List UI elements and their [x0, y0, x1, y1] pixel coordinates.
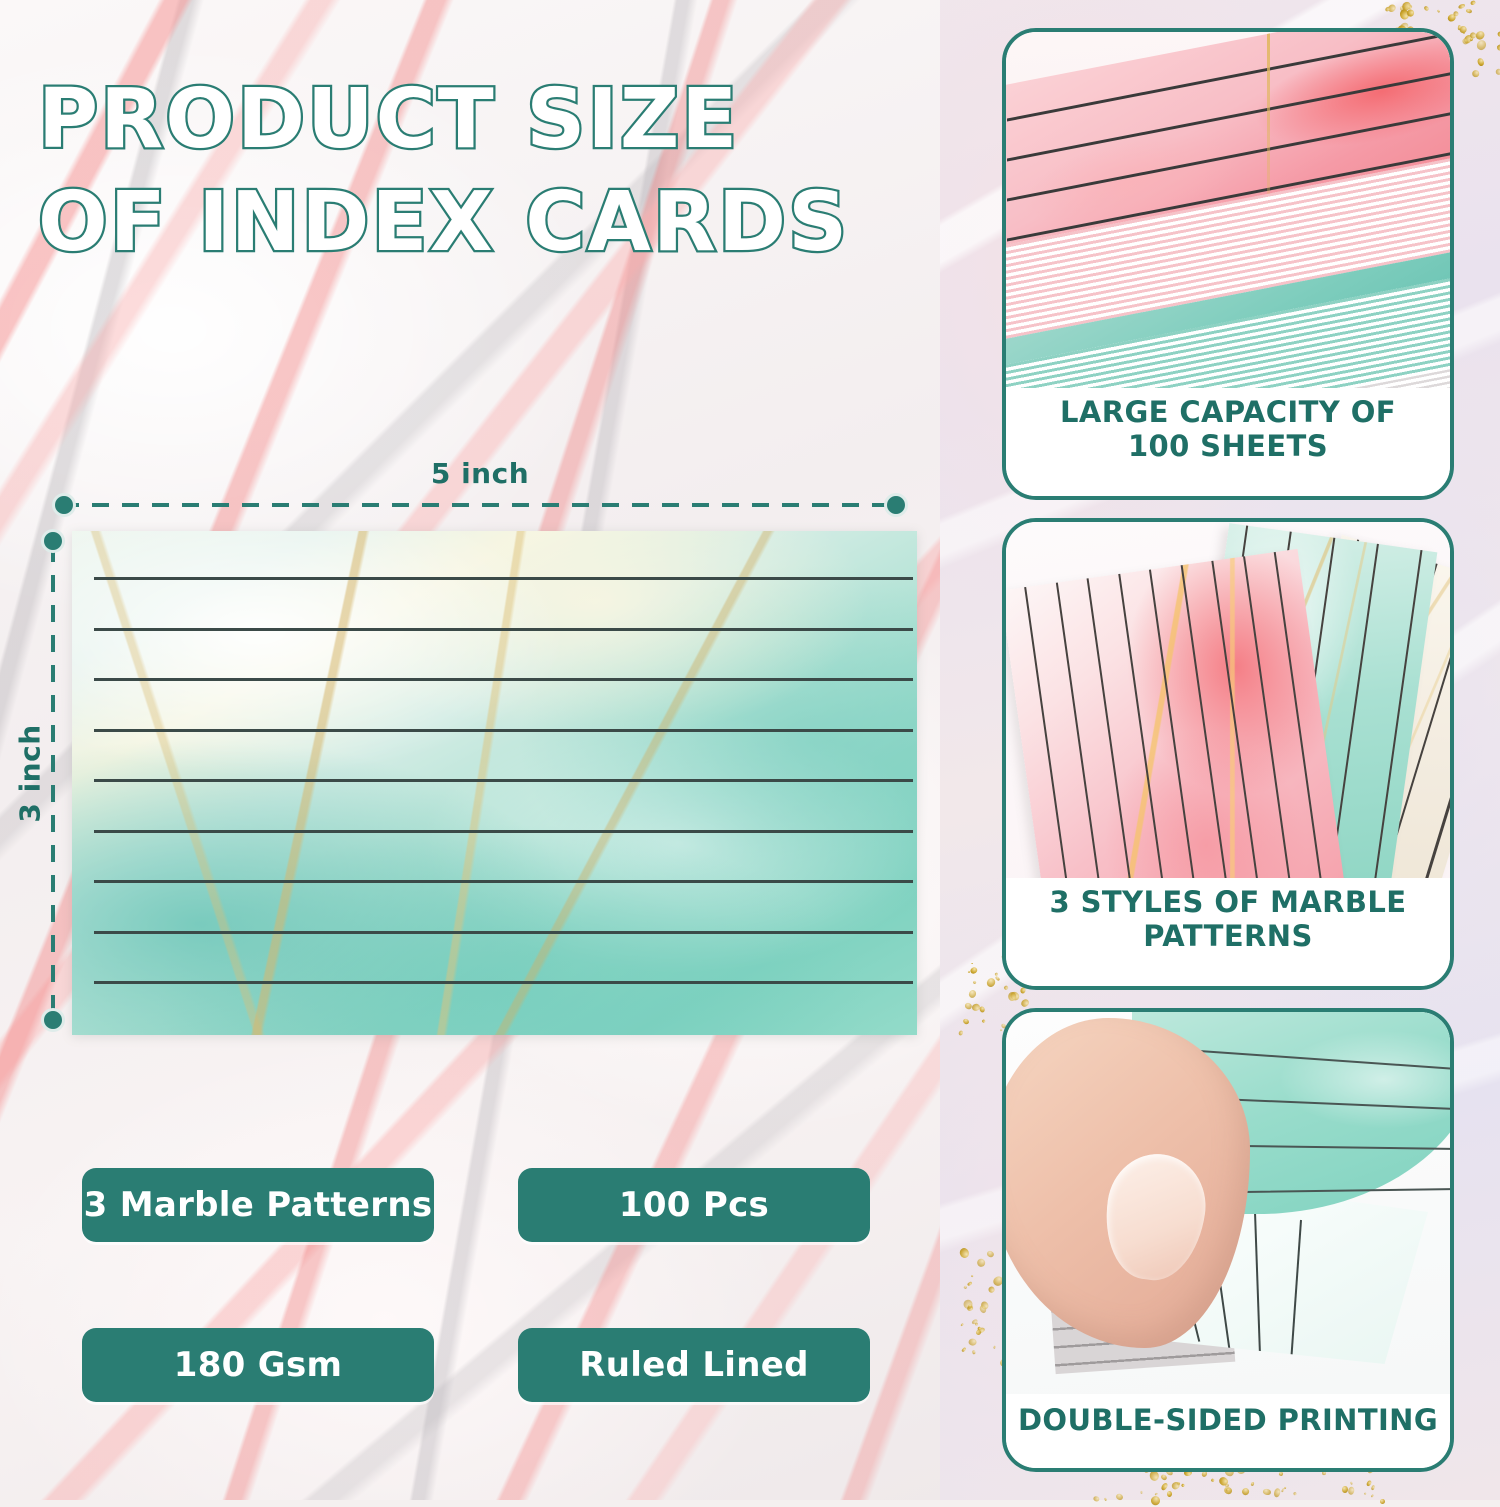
- card-ruled-line: [94, 628, 913, 631]
- feature-panel-capacity[interactable]: LARGE CAPACITY OF 100 SHEETS: [1002, 28, 1454, 500]
- card-ruled-line: [94, 880, 913, 883]
- card-ruled-line: [94, 931, 913, 934]
- infographic-canvas: PRODUCT SIZE OF INDEX CARDS 5 inch 3 inc…: [0, 0, 1500, 1500]
- photo-hand-flipping-card: [1006, 1012, 1450, 1394]
- page-title-line-1: PRODUCT SIZE: [38, 68, 918, 171]
- stack-ruled-line: [1007, 68, 1450, 161]
- thumbnail: [1098, 1148, 1213, 1286]
- photo-card-stack: [1006, 32, 1450, 388]
- feature-panel-double-sided[interactable]: DOUBLE-SIDED PRINTING: [1002, 1008, 1454, 1472]
- back-side-ruled-line: [1290, 1220, 1303, 1370]
- height-dimension-dashed-line: [51, 545, 55, 1015]
- page-title-line-2: OF INDEX CARDS: [38, 171, 918, 274]
- caption-capacity: LARGE CAPACITY OF 100 SHEETS: [1006, 388, 1450, 496]
- badge-quantity[interactable]: 100 Pcs: [518, 1168, 870, 1242]
- caption-double-sided: DOUBLE-SIDED PRINTING: [1006, 1394, 1450, 1468]
- badge-ruled-lined[interactable]: Ruled Lined: [518, 1328, 870, 1402]
- caption-double-sided-line-1: DOUBLE-SIDED PRINTING: [1016, 1404, 1440, 1438]
- photo-fanned-cards: [1006, 522, 1450, 878]
- back-side-ruled-line: [1254, 1212, 1261, 1362]
- page-title: PRODUCT SIZE OF INDEX CARDS: [38, 68, 918, 275]
- card-ruled-line: [94, 678, 913, 681]
- height-dimension-endpoint-bottom: [41, 1008, 65, 1032]
- index-card-preview: [72, 531, 917, 1035]
- feature-panel-styles[interactable]: 3 STYLES OF MARBLE PATTERNS: [1002, 518, 1454, 990]
- fanned-card-ruled-line: [1020, 558, 1080, 878]
- caption-styles-line-1: 3 STYLES OF MARBLE: [1016, 886, 1440, 920]
- width-dimension-endpoint-left: [52, 493, 76, 517]
- caption-capacity-line-1: LARGE CAPACITY OF: [1016, 396, 1440, 430]
- stack-ruled-line: [1007, 32, 1450, 121]
- card-ruled-line: [94, 830, 913, 833]
- fanned-card-pink: [1006, 549, 1348, 878]
- card-ruled-line: [94, 981, 913, 984]
- width-dimension-endpoint-right: [884, 493, 908, 517]
- card-ruled-line: [94, 729, 913, 732]
- height-dimension-endpoint-top: [41, 529, 65, 553]
- caption-capacity-line-2: 100 SHEETS: [1016, 430, 1440, 464]
- fanned-card-ruled-line: [1239, 549, 1299, 878]
- width-dimension-dashed-line: [62, 503, 898, 507]
- width-dimension-label: 5 inch: [0, 457, 960, 490]
- hand-thumb: [1006, 1018, 1250, 1348]
- caption-styles-line-2: PATTERNS: [1016, 920, 1440, 954]
- height-dimension-label: 3 inch: [14, 704, 47, 844]
- gold-speck: [1380, 1499, 1385, 1504]
- caption-styles: 3 STYLES OF MARBLE PATTERNS: [1006, 878, 1450, 986]
- card-ruled-line: [94, 779, 913, 782]
- badge-paper-weight[interactable]: 180 Gsm: [82, 1328, 434, 1402]
- card-ruled-line: [94, 577, 913, 580]
- badge-marble-patterns[interactable]: 3 Marble Patterns: [82, 1168, 434, 1242]
